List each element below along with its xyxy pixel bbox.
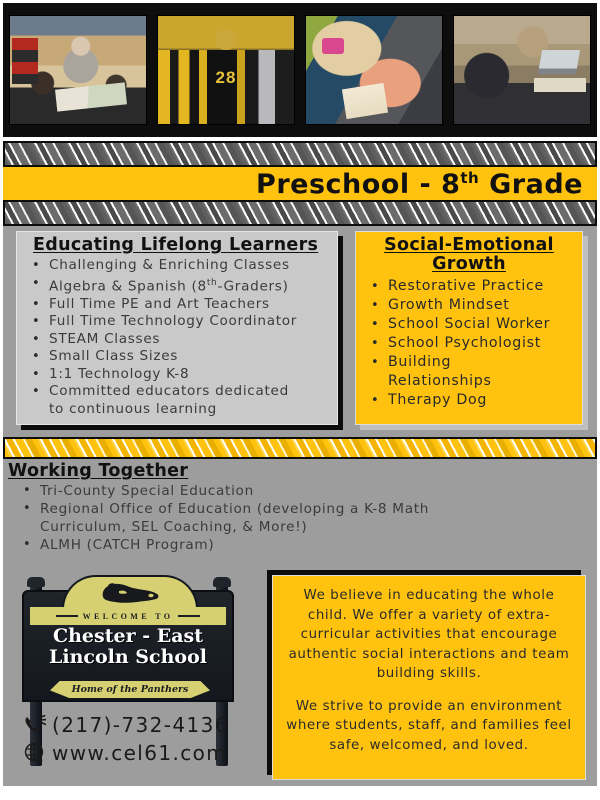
sign-school-name: Chester - East Lincoln School [24,626,232,668]
list-item: STEAM Classes [29,331,331,349]
list-item: Small Class Sizes [29,348,331,366]
phone-icon [24,715,52,735]
list-item-text: Challenging & Enriching Classes [49,257,290,273]
right-card-heading-line1: Social-Emotional [384,235,554,255]
students-laptops-photo [453,15,591,125]
list-item-text: Committed educators dedicated [49,383,289,399]
sign-welcome-banner: WELCOME TO [30,607,226,625]
title-bar: Preschool - 8th Grade [3,167,597,201]
classroom-small-group-photo [9,15,147,125]
list-item: Full Time PE and Art Teachers [29,296,331,314]
list-item-continuation: to continuous learning [29,401,331,419]
right-card-heading: Social-EmotionalGrowth [356,232,582,276]
mission-paragraph-1: We believe in educating the whole child.… [285,586,573,684]
list-item: 1:1 Technology K-8 [29,366,331,384]
list-item-text: Full Time PE and Art Teachers [49,296,270,312]
list-item: ALMH (CATCH Program) [20,536,588,554]
right-card-heading-line2: Growth [432,254,506,274]
list-item-text: ALMH (CATCH Program) [40,537,214,553]
page-title: Preschool - 8th Grade [256,169,583,200]
contact-block: (217)-732-4136 www.cel61.com [24,711,264,767]
mission-paragraph-2: We strive to provide an environment wher… [285,697,573,756]
page-title-ordinal: th [460,169,479,187]
working-together-list: Tri-County Special Education Regional Of… [8,482,594,554]
list-item: School Social Worker [368,315,576,334]
divider-band-yellow [3,437,597,459]
welcome-rule-left [56,615,78,617]
sign-school-name-line1: Chester - East [53,625,203,647]
sign-school-name-line2: Lincoln School [49,646,207,668]
list-item-text: 1:1 Technology K-8 [49,366,189,382]
working-together-section: Working Together Tri-County Special Educ… [8,461,594,554]
list-item-text: School Social Worker [388,316,550,332]
list-item: Algebra & Spanish (8th-Graders) [29,275,331,296]
list-item-text: Curriculum, SEL Coaching, & More!) [40,519,307,535]
sign-tagline-banner: Home of the Panthers [50,681,210,698]
sign-board: WELCOME TO Chester - East Lincoln School… [22,590,234,702]
list-item-text: School Psychologist [388,335,541,351]
list-item-text: Tri-County Special Education [40,483,254,499]
phone-number: (217)-732-4136 [52,713,229,737]
list-item: Regional Office of Education (developing… [20,500,588,518]
therapy-dog-photo [305,15,443,125]
right-card-list: Restorative Practice Growth Mindset Scho… [356,277,582,410]
list-item-text: to continuous learning [49,401,217,417]
ordinal-suffix: th [207,278,218,288]
divider-band-dark-middle [3,200,597,226]
website-row[interactable]: www.cel61.com [24,739,264,767]
school-sign: WELCOME TO Chester - East Lincoln School… [10,578,260,778]
list-item: Full Time Technology Coordinator [29,313,331,331]
list-item-text-cont: -Graders) [217,278,288,294]
left-card-heading: Educating Lifelong Learners [17,232,337,256]
list-item-text: Relationships [388,373,492,389]
educating-lifelong-learners-card: Educating Lifelong Learners Challenging … [16,231,338,425]
flyer-page: Preschool - 8th Grade Educating Lifelong… [0,0,600,800]
list-item: School Psychologist [368,334,576,353]
page-title-tail: Grade [479,169,583,200]
list-item-continuation: Relationships [368,372,576,391]
list-item-text: Growth Mindset [388,297,510,313]
list-item: Building [368,353,576,372]
list-item: Therapy Dog [368,391,576,410]
list-item: Challenging & Enriching Classes [29,257,331,275]
sign-welcome-text: WELCOME TO [83,612,174,621]
phone-row[interactable]: (217)-732-4136 [24,711,264,739]
working-together-heading: Working Together [8,461,594,481]
panther-head-logo [99,581,161,607]
list-item-text: STEAM Classes [49,331,160,347]
sign-arch [62,575,198,609]
list-item: Committed educators dedicated [29,383,331,401]
list-item-text: Building [388,354,451,370]
social-emotional-growth-card: Social-EmotionalGrowth Restorative Pract… [355,231,583,425]
volleyball-team-photo [157,15,295,125]
list-item-text: Regional Office of Education (developing… [40,501,429,517]
list-item: Tri-County Special Education [20,482,588,500]
list-item-text: Algebra & Spanish (8 [49,278,207,294]
mission-statement-box: We believe in educating the whole child.… [272,575,586,780]
list-item-text: Therapy Dog [388,392,487,408]
divider-band-dark-top [3,141,597,167]
list-item-continuation: Curriculum, SEL Coaching, & More!) [20,518,588,536]
sign-tagline-text: Home of the Panthers [72,684,189,695]
website-url: www.cel61.com [52,741,227,765]
welcome-rule-right [178,615,200,617]
list-item: Restorative Practice [368,277,576,296]
globe-icon [24,742,52,764]
list-item-text: Small Class Sizes [49,348,178,364]
list-item-text: Restorative Practice [388,278,544,294]
left-card-list: Challenging & Enriching Classes Algebra … [17,257,337,418]
page-title-main: Preschool - 8 [256,169,460,200]
list-item: Growth Mindset [368,296,576,315]
list-item-text: Full Time Technology Coordinator [49,313,297,329]
photo-strip [3,3,597,137]
